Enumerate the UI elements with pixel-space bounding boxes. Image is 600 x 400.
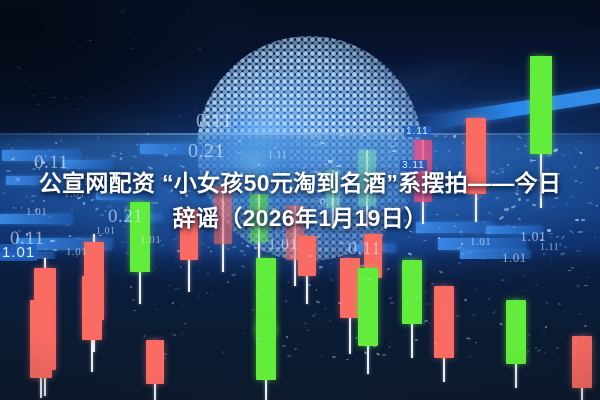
speckle <box>397 339 399 341</box>
candlestick <box>572 336 592 400</box>
speckle <box>238 139 242 142</box>
speckle <box>134 310 136 312</box>
speckle <box>456 315 459 317</box>
speckle <box>387 268 390 270</box>
speckle <box>237 152 241 154</box>
speckle <box>180 45 182 47</box>
candle-body <box>256 322 276 380</box>
candlestick <box>256 322 276 400</box>
speckle <box>488 285 489 286</box>
speckle <box>25 120 27 122</box>
speckle <box>332 356 336 358</box>
speckle <box>516 147 519 150</box>
candle-body <box>530 56 552 154</box>
price-number: 0.11 <box>348 238 381 259</box>
headline-line-1: 公宣网配资 “小女孩50元淘到名酒”系摆拍——今日 <box>0 166 600 201</box>
candle-body <box>298 236 316 276</box>
price-number: 0.11 <box>196 110 232 133</box>
speckle <box>305 264 309 267</box>
price-number: 1.01 <box>0 244 37 261</box>
speckle <box>382 353 386 355</box>
candlestick <box>82 276 102 372</box>
price-number: 1.11 <box>404 126 431 137</box>
speckle <box>453 152 455 154</box>
speckle <box>297 136 301 138</box>
speckle <box>320 247 322 249</box>
speckle <box>255 256 257 259</box>
speckle <box>130 286 132 288</box>
speckle <box>319 265 323 268</box>
speckle <box>188 262 191 264</box>
candle-body <box>30 300 52 378</box>
price-number: 1.11 <box>540 242 559 253</box>
candlestick <box>402 260 422 358</box>
speckle <box>559 242 562 245</box>
speckle <box>187 8 190 10</box>
speckle <box>461 242 463 244</box>
candlestick <box>340 258 360 354</box>
speckle <box>458 261 461 263</box>
candle-body <box>146 340 164 384</box>
speckle <box>573 341 577 344</box>
headline-line-2: 辞谣（2026年1月19日） <box>0 201 600 236</box>
candlestick <box>298 236 316 304</box>
speckle <box>359 340 361 342</box>
speckle <box>223 136 227 138</box>
speckle <box>587 276 589 278</box>
candle-body <box>82 276 102 340</box>
speckle <box>389 155 391 156</box>
candle-body <box>434 286 454 358</box>
speckle <box>50 240 55 242</box>
speckle <box>557 302 560 304</box>
speckle <box>563 245 566 248</box>
speckle <box>197 269 199 271</box>
speckle <box>11 147 14 150</box>
candlestick <box>434 286 454 382</box>
speckle <box>288 280 291 282</box>
candle-body <box>506 300 526 364</box>
speckle <box>571 267 574 269</box>
candle-body <box>402 260 422 324</box>
speckle <box>258 164 260 166</box>
candlestick <box>506 300 526 388</box>
headline-text: 公宣网配资 “小女孩50元淘到名酒”系摆拍——今日 辞谣（2026年1月19日） <box>0 166 600 236</box>
banner-image: 0.110.210.111.011.111.011.010.110.211.11… <box>0 0 600 400</box>
speckle <box>86 155 88 157</box>
speckle <box>447 149 450 152</box>
price-number: 1.11 <box>268 150 287 161</box>
speckle <box>180 334 183 337</box>
speckle <box>70 148 72 150</box>
price-number: 1.01 <box>268 236 298 254</box>
speckle <box>528 334 531 336</box>
candlestick <box>30 300 52 398</box>
speckle <box>51 96 56 98</box>
speckle <box>241 242 242 244</box>
band-top-edge <box>0 133 600 135</box>
speckle <box>148 143 150 145</box>
candlestick <box>146 340 164 400</box>
speckle <box>392 149 396 151</box>
speckle <box>544 352 546 354</box>
speckle <box>306 328 308 330</box>
speckle <box>440 318 444 319</box>
price-number: 1.01 <box>470 236 491 248</box>
candlestick <box>358 268 378 374</box>
speckle <box>328 159 333 162</box>
price-number: 0.21 <box>188 140 225 163</box>
price-number: 1.01 <box>66 246 87 258</box>
speckle <box>367 277 371 280</box>
